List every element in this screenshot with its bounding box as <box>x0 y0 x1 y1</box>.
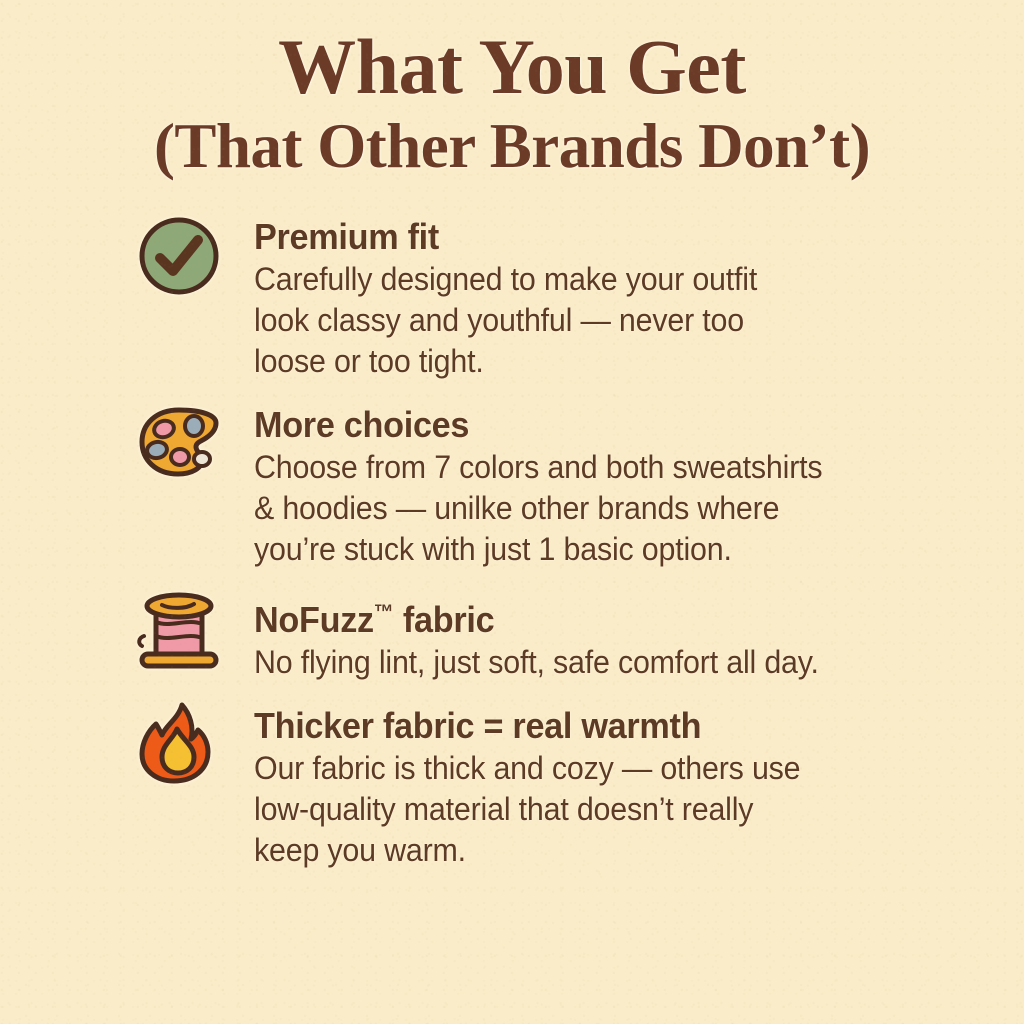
flame-icon <box>136 701 222 787</box>
page-title: What You Get (That Other Brands Don’t) <box>0 0 1024 182</box>
feature-heading: NoFuzz™ fabric <box>254 592 819 641</box>
feature-list: Premium fit Carefully designed to make y… <box>0 216 1024 871</box>
title-line-1: What You Get <box>0 24 1024 110</box>
feature-item-premium-fit: Premium fit Carefully designed to make y… <box>136 216 984 382</box>
feature-text: Thicker fabric = real warmth Our fabric … <box>222 705 829 871</box>
brand-name: NoFuzz <box>254 599 374 640</box>
paint-palette-icon <box>136 400 222 486</box>
green-check-circle-icon <box>136 212 222 298</box>
feature-text: Premium fit Carefully designed to make y… <box>222 216 784 382</box>
feature-heading: More choices <box>254 404 822 446</box>
feature-text: NoFuzz™ fabric No flying lint, just soft… <box>222 592 849 683</box>
thread-spool-icon <box>136 588 222 674</box>
trademark-icon: ™ <box>374 601 394 624</box>
feature-body: No flying lint, just soft, safe comfort … <box>254 642 819 683</box>
heading-suffix: fabric <box>394 599 495 640</box>
feature-body: Choose from 7 colors and both sweatshirt… <box>254 447 822 570</box>
feature-heading: Thicker fabric = real warmth <box>254 705 800 747</box>
feature-heading: Premium fit <box>254 216 757 258</box>
feature-item-more-choices: More choices Choose from 7 colors and bo… <box>136 404 984 570</box>
promo-graphic: What You Get (That Other Brands Don’t) P… <box>0 0 1024 1024</box>
feature-body: Our fabric is thick and cozy — others us… <box>254 748 800 871</box>
title-line-2: (That Other Brands Don’t) <box>0 110 1024 182</box>
feature-item-thicker-fabric: Thicker fabric = real warmth Our fabric … <box>136 705 984 871</box>
feature-item-nofuzz-fabric: NoFuzz™ fabric No flying lint, just soft… <box>136 592 984 683</box>
feature-text: More choices Choose from 7 colors and bo… <box>222 404 852 570</box>
feature-body: Carefully designed to make your outfit l… <box>254 259 757 382</box>
